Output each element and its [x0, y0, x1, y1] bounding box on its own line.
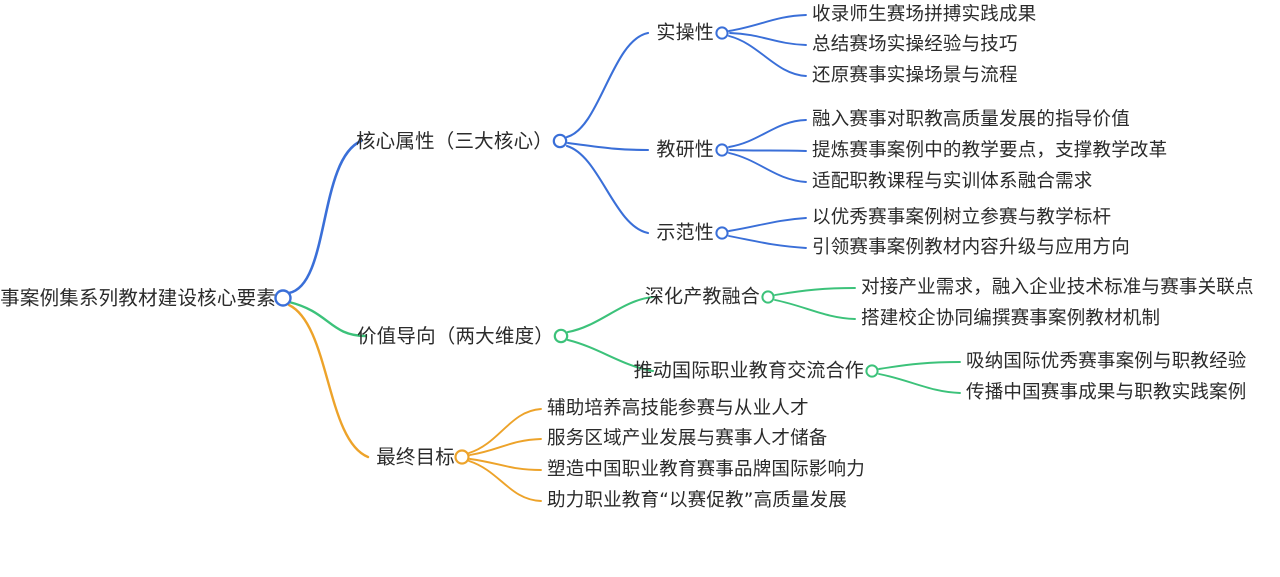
leaf-guoji-0[interactable]: 吸纳国际优秀赛事案例与职教经验 — [966, 353, 1247, 372]
link-shicao-leaf-2 — [729, 36, 806, 76]
node-sub-jiaoyan[interactable]: 教研性 — [656, 141, 714, 160]
node-branch-goal[interactable]: 最终目标 — [376, 447, 455, 467]
core-sub-links — [567, 33, 648, 233]
link-jiaoyan-leaf-2 — [729, 153, 806, 182]
link-goal-leaf-2 — [470, 459, 541, 470]
node-sub-guoji[interactable]: 推动国际职业教育交流合作 — [634, 362, 864, 381]
node-circle-value — [555, 330, 567, 342]
leaf-goal-0[interactable]: 辅助培养高技能参赛与从业人才 — [547, 400, 809, 419]
leaf-jiaoyan-2[interactable]: 适配职教课程与实训体系融合需求 — [812, 173, 1093, 192]
link-chanjiao-leaf-1 — [775, 300, 855, 319]
leaf-shifan-0[interactable]: 以优秀赛事案例树立参赛与教学标杆 — [812, 209, 1111, 228]
node-circle-chanjiao — [762, 291, 773, 302]
leaf-chanjiao-0[interactable]: 对接产业需求，融入企业技术标准与赛事关联点 — [861, 279, 1254, 298]
leaf-jiaoyan-0[interactable]: 融入赛事对职教高质量发展的指导价值 — [812, 111, 1130, 130]
link-root-core — [289, 141, 361, 293]
link-guoji-leaf-0 — [879, 362, 960, 369]
shifan-leaf-links — [729, 218, 806, 248]
link-core-jiaoyan — [568, 143, 648, 150]
link-shicao-leaf-0 — [729, 15, 806, 31]
node-circle-shicao — [716, 27, 727, 38]
node-circle-goal — [456, 451, 469, 464]
leaf-shicao-1[interactable]: 总结赛场实操经验与技巧 — [812, 36, 1018, 55]
leaf-jiaoyan-1[interactable]: 提炼赛事案例中的教学要点，支撑教学改革 — [812, 142, 1167, 161]
link-guoji-leaf-1 — [879, 374, 960, 393]
node-branch-core[interactable]: 核心属性（三大核心） — [356, 131, 553, 151]
link-shicao-leaf-1 — [730, 33, 806, 45]
node-circle-core — [554, 135, 566, 147]
node-circle-guoji — [866, 365, 877, 376]
link-goal-leaf-3 — [469, 461, 541, 501]
chanjiao-leaf-links — [775, 288, 855, 319]
node-branch-value[interactable]: 价值导向（两大维度） — [357, 326, 554, 346]
link-jiaoyan-leaf-0 — [729, 120, 806, 147]
jiaoyan-leaf-links — [729, 120, 806, 182]
shicao-leaf-links — [729, 15, 806, 76]
goal-leaf-links — [469, 409, 541, 501]
leaf-goal-3[interactable]: 助力职业教育“以赛促教”高质量发展 — [547, 492, 847, 511]
link-chanjiao-leaf-0 — [775, 288, 855, 295]
mind-map-canvas: 赛事案例集系列教材建设核心要素 核心属性（三大核心） 价值导向（两大维度） 最终… — [0, 0, 1280, 577]
root-branch-links — [289, 141, 368, 457]
leaf-chanjiao-1[interactable]: 搭建校企协同编撰赛事案例教材机制 — [861, 310, 1160, 329]
node-circle-root — [276, 291, 291, 306]
link-shifan-leaf-1 — [729, 236, 806, 248]
link-value-chanjiao — [568, 297, 653, 332]
node-circle-jiaoyan — [716, 144, 727, 155]
leaf-guoji-1[interactable]: 传播中国赛事成果与职教实践案例 — [966, 384, 1247, 403]
leaf-goal-2[interactable]: 塑造中国职业教育赛事品牌国际影响力 — [547, 461, 865, 480]
leaf-goal-1[interactable]: 服务区域产业发展与赛事人才储备 — [547, 430, 828, 449]
node-sub-shicao[interactable]: 实操性 — [656, 24, 714, 43]
link-jiaoyan-leaf-1 — [730, 150, 806, 151]
link-core-shicao — [567, 33, 648, 137]
link-core-shifan — [567, 146, 648, 233]
leaf-shicao-2[interactable]: 还原赛事实操场景与流程 — [812, 67, 1018, 86]
node-circle-shifan — [716, 227, 727, 238]
node-sub-shifan[interactable]: 示范性 — [656, 224, 714, 243]
node-sub-chanjiao[interactable]: 深化产教融合 — [645, 288, 760, 307]
link-root-value — [289, 302, 366, 336]
guoji-leaf-links — [879, 362, 960, 393]
node-root[interactable]: 赛事案例集系列教材建设核心要素 — [0, 288, 276, 308]
leaf-shicao-0[interactable]: 收录师生赛场拼搏实践成果 — [812, 6, 1036, 25]
leaf-shifan-1[interactable]: 引领赛事案例教材内容升级与应用方向 — [812, 239, 1130, 258]
link-shifan-leaf-0 — [729, 218, 806, 231]
